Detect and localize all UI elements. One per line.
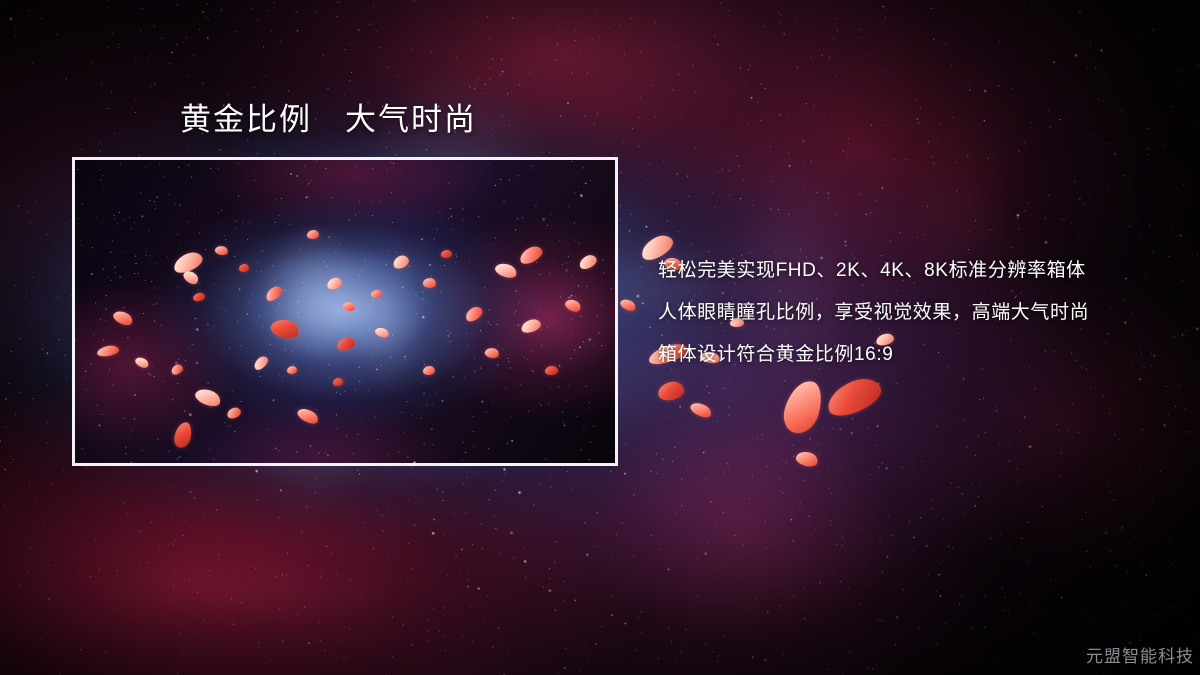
- rose-petal: [688, 400, 713, 421]
- body-line-3: 箱体设计符合黄金比例16:9: [658, 340, 1089, 382]
- presentation-slide: 黄金比例 大气时尚 轻松完美实现FHD、2K、4K、8K标准分辨率箱体 人体眼睛…: [0, 0, 1200, 675]
- body-line-1: 轻松完美实现FHD、2K、4K、8K标准分辨率箱体: [658, 256, 1089, 298]
- rose-petal: [794, 449, 819, 469]
- rose-petal: [657, 380, 685, 401]
- rose-petal: [619, 297, 638, 314]
- frame-nebula-wisps: [75, 160, 615, 463]
- body-line-2: 人体眼睛瞳孔比例，享受视觉效果，高端大气时尚: [658, 298, 1089, 340]
- slide-title: 黄金比例 大气时尚: [180, 101, 477, 138]
- slide-body-text: 轻松完美实现FHD、2K、4K、8K标准分辨率箱体 人体眼睛瞳孔比例，享受视觉效…: [658, 256, 1089, 382]
- company-watermark: 元盟智能科技: [1086, 642, 1194, 667]
- rose-petal: [779, 376, 827, 437]
- nebula-photo-frame: [72, 157, 618, 466]
